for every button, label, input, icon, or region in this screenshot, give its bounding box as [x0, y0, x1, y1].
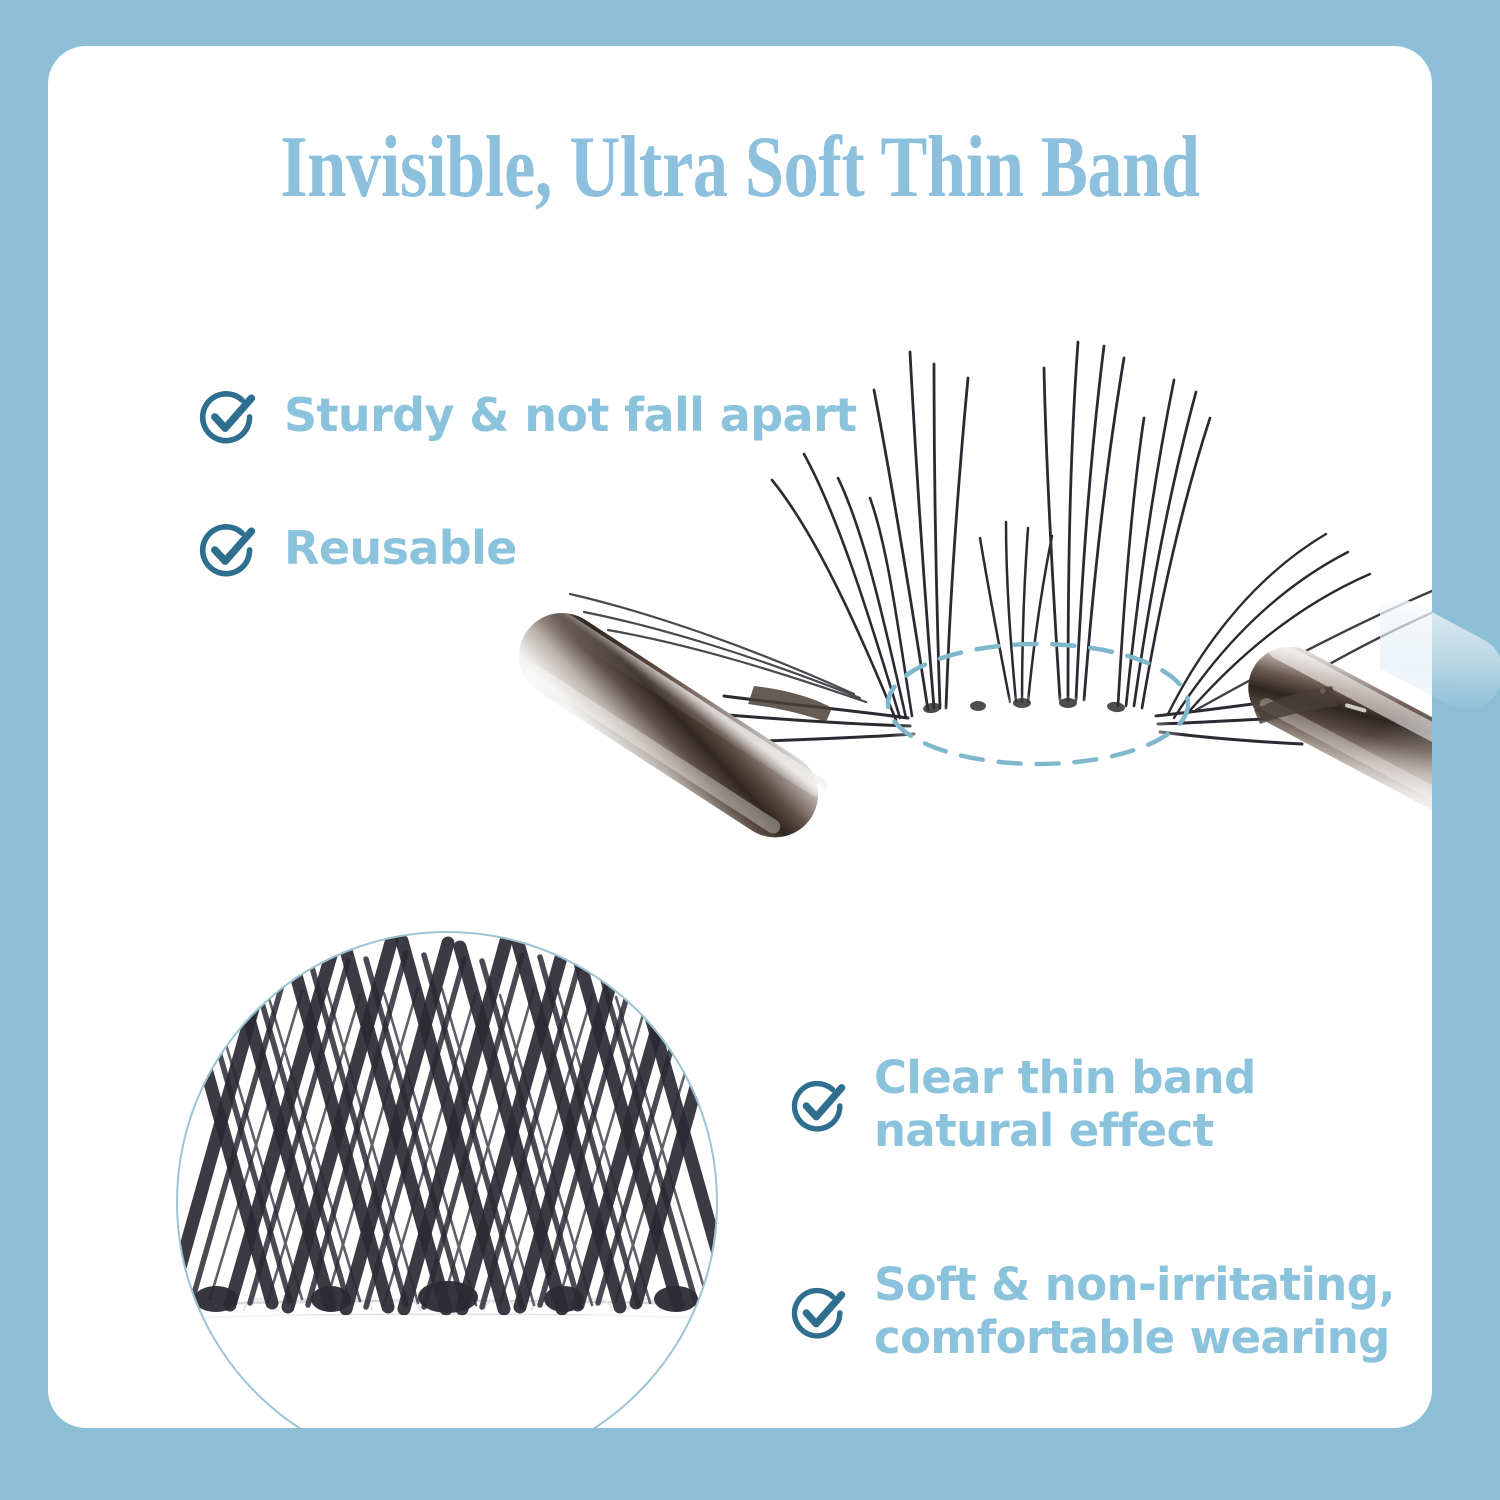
page-title: Invisible, Ultra Soft Thin Band	[186, 124, 1293, 212]
feature-item-reusable: Reusable	[198, 519, 517, 579]
band-highlight-ellipse	[888, 644, 1188, 764]
tweezer-right-tip	[1254, 686, 1338, 724]
band-closeup-illustration	[176, 931, 718, 1428]
feature-label: Reusable	[284, 523, 517, 575]
lash-knot-group	[922, 698, 1125, 714]
band-closeup-inset	[176, 931, 718, 1428]
check-circle-icon	[790, 1076, 848, 1134]
feature-label: Soft & non-irritating, comfortable weari…	[874, 1259, 1395, 1364]
feature-item-soft: Soft & non-irritating, comfortable weari…	[790, 1259, 1395, 1364]
infographic-frame: Invisible, Ultra Soft Thin Band	[0, 0, 1500, 1500]
check-circle-icon	[198, 386, 258, 446]
white-content-panel: Invisible, Ultra Soft Thin Band	[48, 46, 1432, 1428]
feature-label: Sturdy & not fall apart	[284, 390, 856, 442]
feature-item-sturdy: Sturdy & not fall apart	[198, 386, 856, 446]
tweezer-left-tip	[748, 686, 832, 722]
check-circle-icon	[790, 1283, 848, 1341]
clear-lash-band	[888, 694, 1188, 798]
tweezer-left	[503, 597, 835, 854]
feature-label: Clear thin band natural effect	[874, 1052, 1256, 1157]
tweezer-right	[1234, 632, 1432, 864]
feature-item-clear-band: Clear thin band natural effect	[790, 1052, 1256, 1157]
check-circle-icon	[198, 519, 258, 579]
